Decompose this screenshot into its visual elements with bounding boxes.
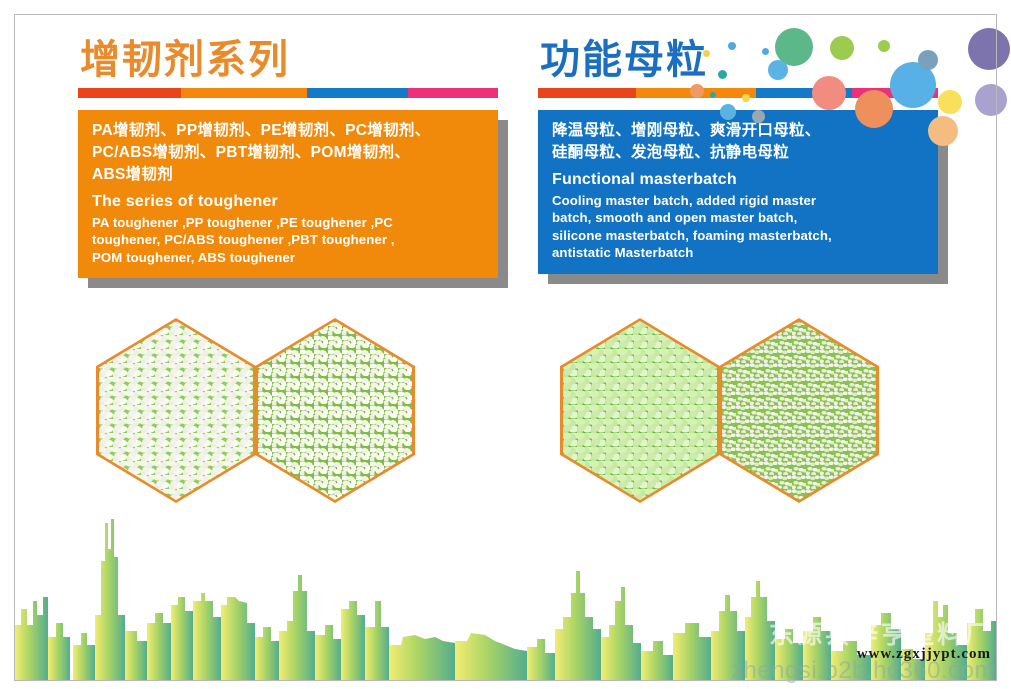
toughener-textbox-body: PA增韧剂、PP增韧剂、PE增韧剂、PC增韧剂、 PC/ABS增韧剂、PBT增韧… xyxy=(78,110,498,278)
hexagon-toughener-cream-pellets-photo xyxy=(258,321,412,500)
masterbatch-hexagon-group xyxy=(560,318,879,503)
toughener-hexagon-group xyxy=(96,318,415,503)
colorbar-segment-orange xyxy=(636,88,756,98)
masterbatch-panel: 功能母粒 降温母粒、增刚母粒、爽滑开口母粒、 硅酮母粒、发泡母粒、抗静电母粒 F… xyxy=(538,40,938,274)
hexagon-masterbatch-gray-pellets xyxy=(719,318,879,503)
masterbatch-colorbar xyxy=(538,88,938,98)
bubble-lavender xyxy=(975,84,1007,116)
toughener-cn-line-2: PC/ABS增韧剂、PBT增韧剂、POM增韧剂、 xyxy=(92,142,486,164)
poster-canvas: 增韧剂系列 PA增韧剂、PP增韧剂、PE增韧剂、PC增韧剂、 PC/ABS增韧剂… xyxy=(0,0,1011,689)
toughener-en-heading: The series of toughener xyxy=(92,190,486,214)
masterbatch-textbox: 降温母粒、增刚母粒、爽滑开口母粒、 硅酮母粒、发泡母粒、抗静电母粒 Functi… xyxy=(538,110,938,274)
colorbar-segment-red-orange xyxy=(538,88,636,98)
hexagon-toughener-cream-pellets xyxy=(255,318,415,503)
toughener-cn-line-3: ABS增韧剂 xyxy=(92,164,486,186)
colorbar-segment-blue xyxy=(756,88,852,98)
toughener-en-line-2: toughener, PC/ABS toughener ,PBT toughen… xyxy=(92,231,486,248)
skyline-svg xyxy=(15,505,996,680)
colorbar-segment-red-orange xyxy=(78,88,181,98)
masterbatch-en-line-3: silicone masterbatch, foaming masterbatc… xyxy=(552,227,926,244)
colorbar-segment-pink xyxy=(408,88,498,98)
masterbatch-cn-line-1: 降温母粒、增刚母粒、爽滑开口母粒、 xyxy=(552,120,926,142)
toughener-textbox: PA增韧剂、PP增韧剂、PE增韧剂、PC增韧剂、 PC/ABS增韧剂、PBT增韧… xyxy=(78,110,498,278)
masterbatch-en-heading: Functional masterbatch xyxy=(552,168,926,192)
hexagon-masterbatch-gray-pellets-photo xyxy=(722,321,876,500)
toughener-cn-line-1: PA增韧剂、PP增韧剂、PE增韧剂、PC增韧剂、 xyxy=(92,120,486,142)
masterbatch-title: 功能母粒 xyxy=(540,40,938,80)
city-skyline-graphic xyxy=(15,505,996,680)
masterbatch-textbox-body: 降温母粒、增刚母粒、爽滑开口母粒、 硅酮母粒、发泡母粒、抗静电母粒 Functi… xyxy=(538,110,938,274)
toughener-title: 增韧剂系列 xyxy=(80,40,498,80)
masterbatch-en-line-2: batch, smooth and open master batch, xyxy=(552,209,926,226)
masterbatch-en-line-4: antistatic Masterbatch xyxy=(552,244,926,261)
bubble-purple-large xyxy=(968,28,1010,70)
masterbatch-en-line-1: Cooling master batch, added rigid master xyxy=(552,192,926,209)
skyline-buildings xyxy=(15,519,996,680)
colorbar-segment-orange xyxy=(181,88,307,98)
toughener-panel: 增韧剂系列 PA增韧剂、PP增韧剂、PE增韧剂、PC增韧剂、 PC/ABS增韧剂… xyxy=(78,40,498,278)
toughener-en-line-3: POM toughener, ABS toughener xyxy=(92,249,486,266)
colorbar-segment-blue xyxy=(307,88,408,98)
hexagon-masterbatch-green-pellets xyxy=(560,318,720,503)
hexagon-masterbatch-green-pellets-photo xyxy=(563,321,717,500)
colorbar-segment-pink xyxy=(852,88,938,98)
bubble-yellow-mid xyxy=(938,90,962,114)
toughener-colorbar xyxy=(78,88,498,98)
masterbatch-cn-line-2: 硅酮母粒、发泡母粒、抗静电母粒 xyxy=(552,142,926,164)
hexagon-toughener-white-pellets xyxy=(96,318,256,503)
hexagon-toughener-white-pellets-photo xyxy=(99,321,253,500)
watermark-site: zhengsi.b2b.hc360.com xyxy=(731,657,995,685)
toughener-en-line-1: PA toughener ,PP toughener ,PE toughener… xyxy=(92,214,486,231)
